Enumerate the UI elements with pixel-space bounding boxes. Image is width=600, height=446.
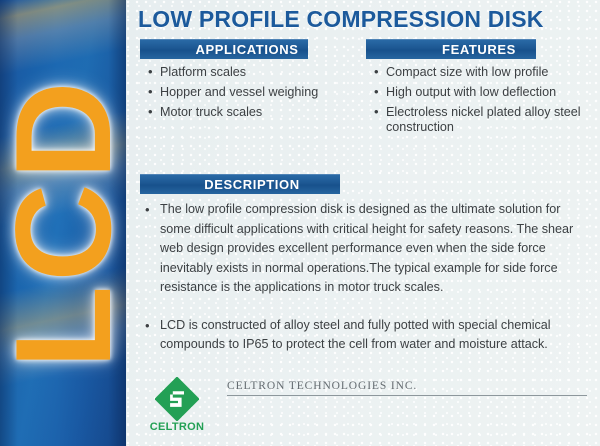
celtron-diamond-s-icon — [155, 377, 199, 421]
list-item: Platform scales — [148, 65, 353, 80]
list-item: Electroless nickel plated alloy steel co… — [374, 105, 589, 135]
list-item: Motor truck scales — [148, 105, 353, 120]
spine-product-code: LCD — [3, 0, 123, 446]
product-spine-panel: LCD — [0, 0, 126, 446]
applications-list: Platform scales Hopper and vessel weighi… — [148, 65, 353, 125]
footer: CELTRON CELTRON TECHNOLOGIES INC. — [126, 372, 600, 446]
product-datasheet: LCD LOW PROFILE COMPRESSION DISK APPLICA… — [0, 0, 600, 446]
description-list: The low profile compression disk is desi… — [143, 200, 593, 355]
page-title: LOW PROFILE COMPRESSION DISK — [138, 6, 544, 33]
section-header-description: DESCRIPTION — [140, 174, 340, 194]
description-paragraph: The low profile compression disk is desi… — [143, 200, 593, 298]
list-item: Hopper and vessel weighing — [148, 85, 353, 100]
celtron-wordmark: CELTRON — [148, 421, 206, 433]
features-list: Compact size with low profile High outpu… — [374, 65, 589, 140]
section-header-applications-label: APPLICATIONS — [149, 42, 298, 57]
company-name: CELTRON TECHNOLOGIES INC. — [227, 380, 587, 396]
description-paragraph: LCD is constructed of alloy steel and fu… — [143, 316, 593, 355]
content-area: LOW PROFILE COMPRESSION DISK APPLICATION… — [126, 0, 600, 446]
section-header-features-label: FEATURES — [386, 42, 516, 57]
celtron-logo: CELTRON — [148, 377, 206, 439]
section-header-features: FEATURES — [366, 39, 536, 59]
list-item: Compact size with low profile — [374, 65, 589, 80]
description-body: The low profile compression disk is desi… — [143, 200, 593, 373]
section-header-description-label: DESCRIPTION — [180, 177, 299, 192]
section-header-applications: APPLICATIONS — [140, 39, 308, 59]
list-item: High output with low deflection — [374, 85, 589, 100]
